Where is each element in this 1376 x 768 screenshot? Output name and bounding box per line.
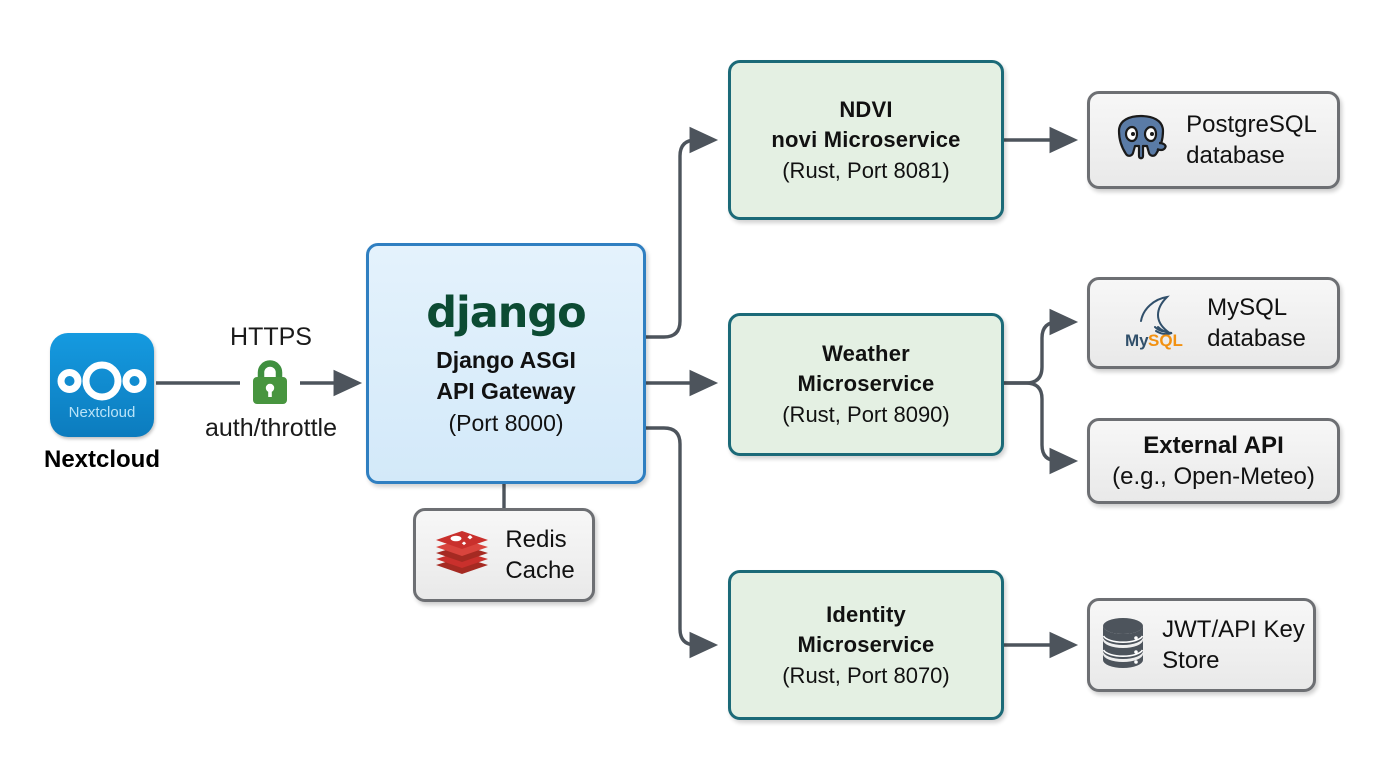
weather-microservice-node[interactable]: Weather Microservice (Rust, Port 8090) (728, 313, 1004, 456)
wire-gateway-to-ndvi (646, 140, 714, 337)
mysql-database-node[interactable]: My SQL MySQL database (1087, 277, 1340, 369)
lock-icon (248, 358, 292, 406)
svg-text:Nextcloud: Nextcloud (69, 404, 136, 421)
gateway-line-2: API Gateway (436, 376, 575, 407)
ndvi-microservice-node[interactable]: NDVI novi Microservice (Rust, Port 8081) (728, 60, 1004, 220)
gateway-line-1: Django ASGI (436, 345, 576, 376)
django-wordmark: django (426, 289, 585, 337)
external-api-node[interactable]: External API (e.g., Open-Meteo) (1087, 418, 1340, 504)
database-cylinder-icon (1098, 615, 1148, 676)
external-api-line-2: (e.g., Open-Meteo) (1112, 461, 1315, 492)
redis-line-1: Redis (505, 524, 566, 555)
diagram-canvas: Nextcloud Nextcloud HTTPS auth/throttle … (0, 0, 1376, 768)
identity-line-1: Identity (826, 600, 906, 630)
wire-weather-to-external-api (1004, 383, 1074, 461)
ndvi-port-label: (Rust, Port 8081) (782, 155, 950, 186)
redis-cache-labels: Redis Cache (505, 524, 574, 586)
redis-line-2: Cache (505, 555, 574, 586)
weather-line-2: Microservice (798, 369, 935, 399)
gateway-port-label: (Port 8000) (448, 407, 563, 439)
jwt-store-labels: JWT/API Key Store (1162, 614, 1305, 676)
postgresql-labels: PostgreSQL database (1186, 109, 1317, 171)
django-api-gateway-node[interactable]: django Django ASGI API Gateway (Port 800… (366, 243, 646, 484)
auth-throttle-label: auth/throttle (176, 414, 366, 443)
mysql-line-2: database (1207, 323, 1306, 354)
mysql-icon: My SQL (1121, 291, 1193, 356)
external-api-labels: External API (e.g., Open-Meteo) (1112, 430, 1315, 492)
nextcloud-caption: Nextcloud (20, 446, 184, 474)
svg-text:SQL: SQL (1148, 331, 1183, 350)
postgresql-database-node[interactable]: PostgreSQL database (1087, 91, 1340, 189)
nextcloud-glyph: Nextcloud (50, 333, 154, 437)
jwt-store-line-2: Store (1162, 645, 1219, 676)
weather-line-1: Weather (822, 339, 910, 369)
mysql-labels: MySQL database (1207, 292, 1306, 354)
wire-weather-to-mysql (1004, 322, 1074, 383)
redis-cache-node[interactable]: Redis Cache (413, 508, 595, 602)
jwt-store-line-1: JWT/API Key (1162, 614, 1305, 645)
nextcloud-icon: Nextcloud (50, 333, 154, 437)
redis-icon (433, 527, 491, 584)
jwt-api-key-store-node[interactable]: JWT/API Key Store (1087, 598, 1316, 692)
ndvi-line-1: NDVI (839, 95, 892, 125)
identity-microservice-node[interactable]: Identity Microservice (Rust, Port 8070) (728, 570, 1004, 720)
postgresql-line-2: database (1186, 140, 1285, 171)
svg-text:My: My (1125, 331, 1149, 350)
identity-line-2: Microservice (798, 630, 935, 660)
wire-gateway-to-identity (646, 428, 714, 645)
identity-port-label: (Rust, Port 8070) (782, 660, 950, 691)
postgresql-line-1: PostgreSQL (1186, 109, 1317, 140)
external-api-line-1: External API (1143, 430, 1284, 461)
ndvi-line-2: novi Microservice (771, 125, 960, 155)
mysql-line-1: MySQL (1207, 292, 1287, 323)
postgresql-icon (1110, 107, 1172, 174)
weather-port-label: (Rust, Port 8090) (782, 399, 950, 430)
https-label: HTTPS (196, 323, 346, 352)
